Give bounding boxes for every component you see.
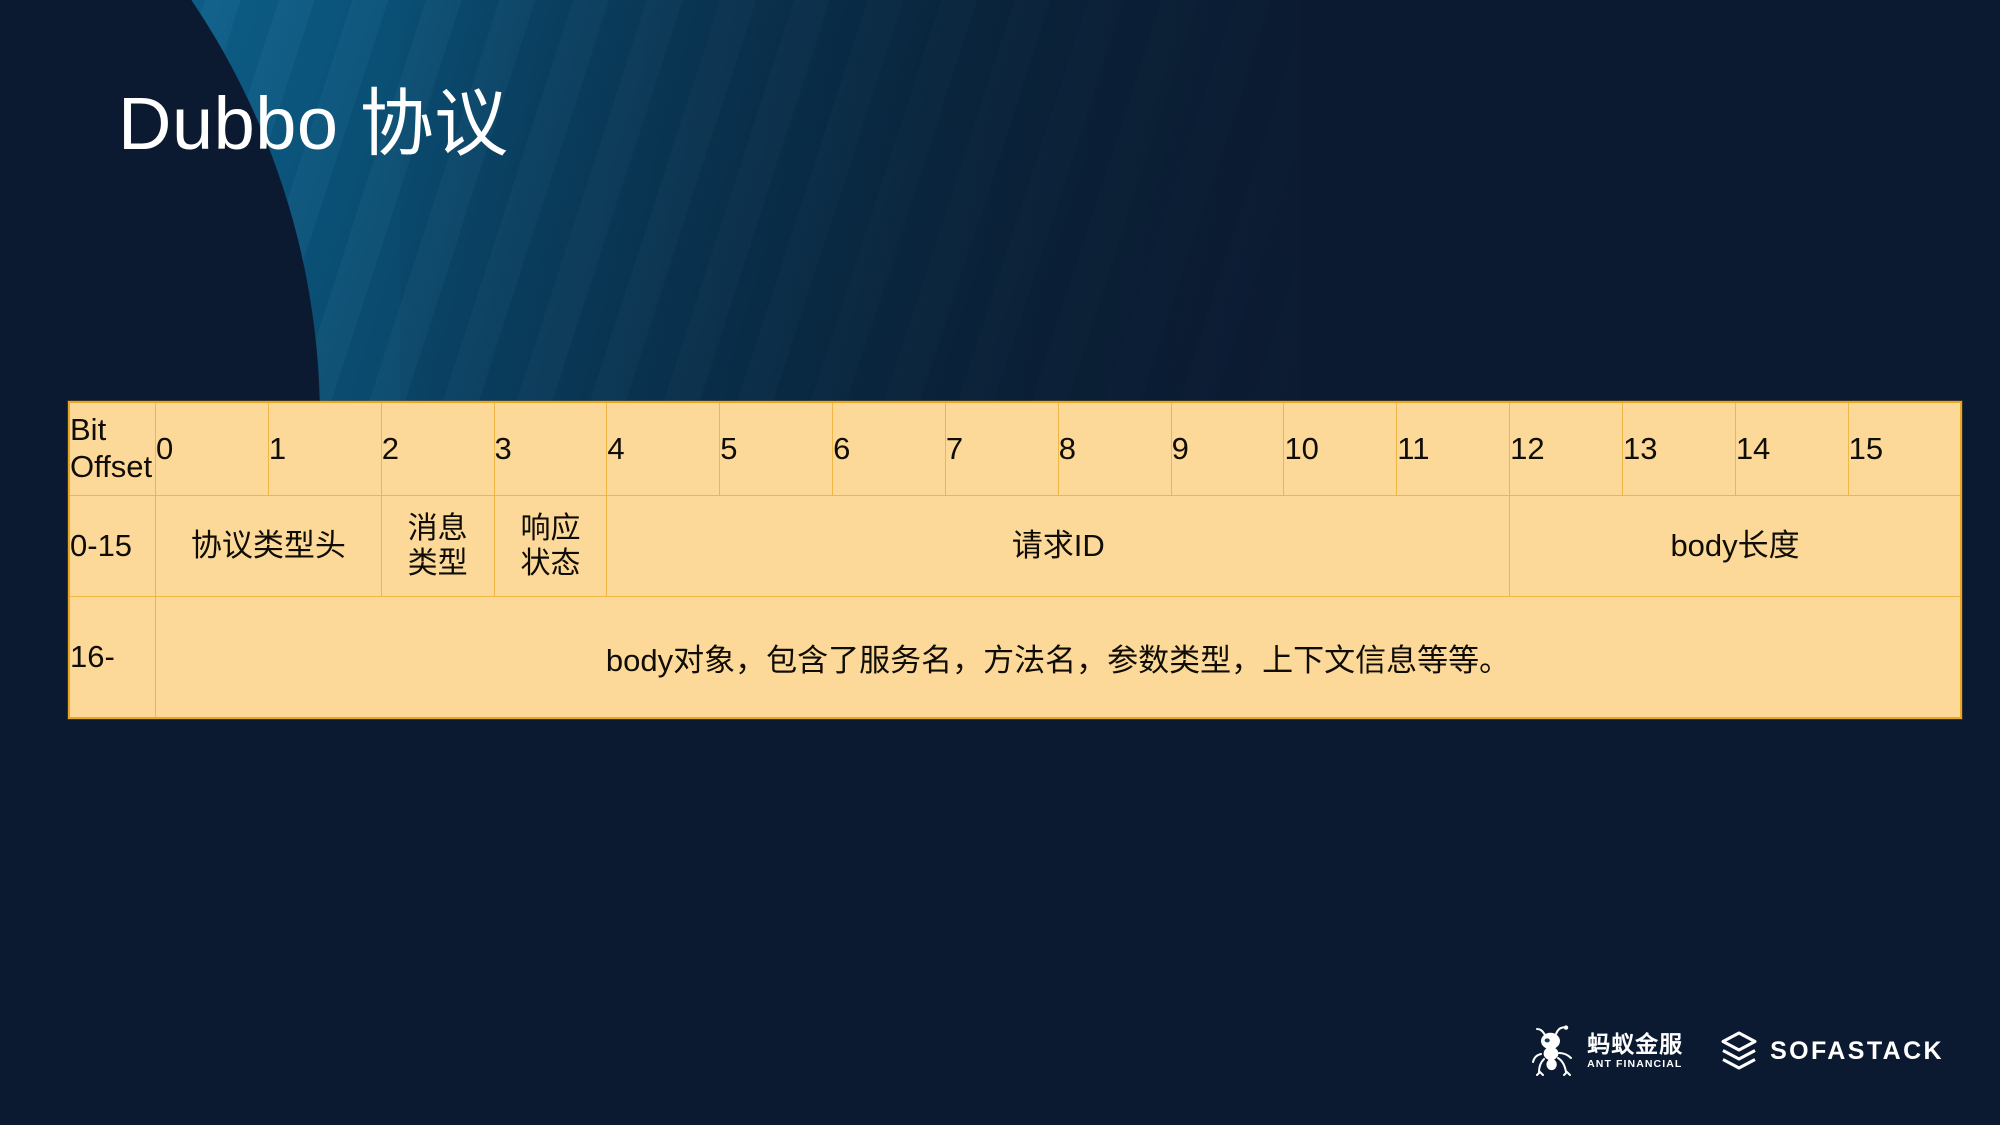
table-row-16: 16- body对象，包含了服务名，方法名，参数类型，上下文信息等等。 — [69, 597, 1961, 719]
sofastack-logo: SOFASTACK — [1717, 1029, 1944, 1073]
header-cell-bit-6: 6 — [833, 402, 946, 496]
data-cell-r1-c0: body对象，包含了服务名，方法名，参数类型，上下文信息等等。 — [156, 597, 1962, 719]
data-cell-r0-c1: 消息类型 — [381, 496, 494, 597]
header-cell-bit-14: 14 — [1735, 402, 1848, 496]
header-cell-bit-offset: BitOffset — [69, 402, 156, 496]
data-cell-r0-c0: 协议类型头 — [156, 496, 382, 597]
header-cell-bit-5: 5 — [720, 402, 833, 496]
stacked-layers-icon — [1717, 1029, 1761, 1073]
header-cell-bit-15: 15 — [1848, 402, 1961, 496]
dubbo-protocol-table: BitOffset 0123456789101112131415 0-15 协议… — [68, 401, 1962, 719]
header-cell-bit-2: 2 — [381, 402, 494, 496]
header-cell-bit-12: 12 — [1510, 402, 1623, 496]
table-header-row: BitOffset 0123456789101112131415 — [69, 402, 1961, 496]
header-cell-bit-8: 8 — [1058, 402, 1171, 496]
table-row-0-15: 0-15 协议类型头消息类型响应状态请求IDbody长度 — [69, 496, 1961, 597]
data-cell-r0-c4: body长度 — [1510, 496, 1961, 597]
row-label-0-15: 0-15 — [69, 496, 156, 597]
header-cell-bit-9: 9 — [1171, 402, 1284, 496]
ant-financial-name-en: ANT FINANCIAL — [1587, 1059, 1683, 1070]
header-cell-bit-0: 0 — [156, 402, 269, 496]
ant-financial-name-cn: 蚂蚁金服 — [1587, 1033, 1683, 1056]
header-cell-bit-3: 3 — [494, 402, 607, 496]
data-cell-r0-c2: 响应状态 — [494, 496, 607, 597]
row-label-16: 16- — [69, 597, 156, 719]
ant-financial-logo: 蚂蚁金服 ANT FINANCIAL — [1532, 1025, 1683, 1077]
ant-mascot-icon — [1532, 1025, 1578, 1077]
header-cell-bit-11: 11 — [1397, 402, 1510, 496]
slide-root: Dubbo 协议 BitOffset 012345678910111213141… — [0, 0, 2000, 1125]
page-title: Dubbo 协议 — [118, 78, 509, 171]
table-body: BitOffset 0123456789101112131415 0-15 协议… — [69, 402, 1961, 718]
header-cell-bit-7: 7 — [945, 402, 1058, 496]
data-cell-r0-c3: 请求ID — [607, 496, 1510, 597]
header-cell-bit-4: 4 — [607, 402, 720, 496]
header-cell-bit-10: 10 — [1284, 402, 1397, 496]
header-cell-bit-13: 13 — [1622, 402, 1735, 496]
header-cell-bit-1: 1 — [268, 402, 381, 496]
ant-financial-wordmark: 蚂蚁金服 ANT FINANCIAL — [1587, 1033, 1683, 1070]
sofastack-wordmark: SOFASTACK — [1770, 1037, 1944, 1066]
footer-logos: 蚂蚁金服 ANT FINANCIAL SOFASTACK — [1532, 1025, 1944, 1077]
protocol-table-container: BitOffset 0123456789101112131415 0-15 协议… — [68, 401, 1962, 719]
